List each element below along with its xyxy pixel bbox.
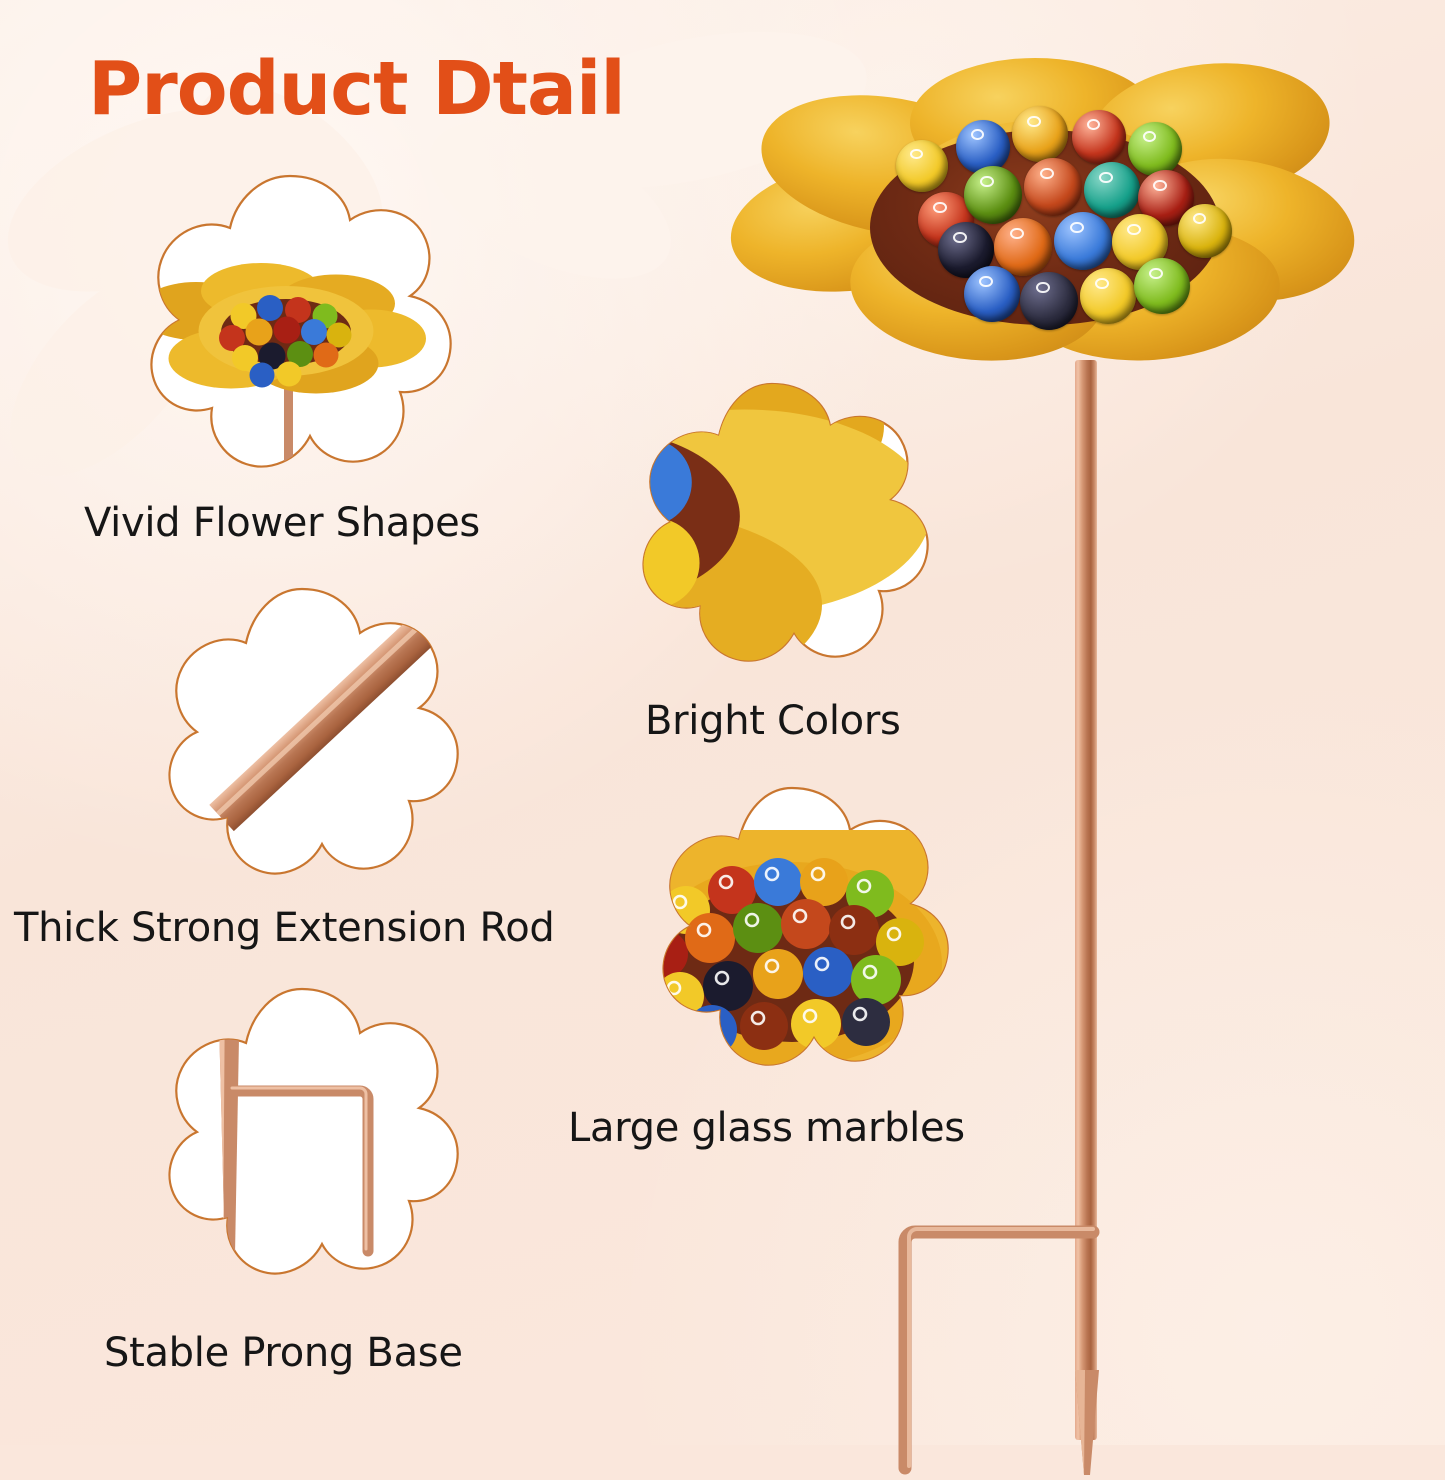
page-title: Product Dtail [88,52,625,126]
caption-large-glass-marbles: Large glass marbles [568,1105,965,1151]
infographic-canvas: Product Dtail [0,0,1445,1445]
hero-marble-cluster [860,100,1240,340]
callout-thick-strong-extension-rod[interactable] [132,583,472,898]
callout-stable-prong-base[interactable] [132,983,472,1298]
caption-vivid-flower-shapes: Vivid Flower Shapes [84,500,480,546]
callout-bright-colors[interactable] [600,378,945,678]
caption-stable-prong-base: Stable Prong Base [104,1330,463,1376]
hero-prong-foot [895,1220,1105,1480]
callout-2-screw-tip [424,577,478,631]
callout-5-artwork [620,830,965,1090]
callout-vivid-flower-shapes[interactable] [118,168,463,488]
hero-flower-dish [720,50,1360,390]
callout-large-glass-marbles[interactable] [620,782,965,1082]
caption-bright-colors: Bright Colors [645,698,901,744]
caption-thick-strong-extension-rod: Thick Strong Extension Rod [14,905,554,951]
